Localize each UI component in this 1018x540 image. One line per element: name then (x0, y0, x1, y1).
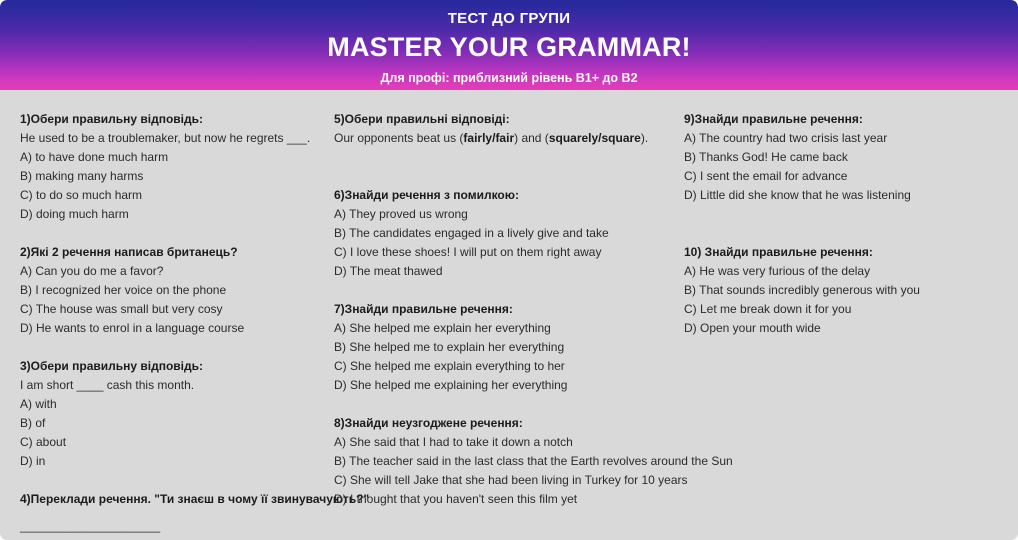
question-10-prompt: 10) Знайди правильне речення: (684, 243, 1010, 262)
question-3-option-d[interactable]: D) in (20, 452, 314, 471)
questions-area: 1)Обери правильну відповідь: He used to … (0, 90, 1018, 540)
question-3-option-b[interactable]: B) of (20, 414, 314, 433)
question-1-option-c[interactable]: C) to do so much harm (20, 186, 314, 205)
question-8-option-c[interactable]: C) She will tell Jake that she had been … (334, 471, 666, 490)
question-1-option-a[interactable]: A) to have done much harm (20, 148, 314, 167)
question-8-option-d[interactable]: D) I thought that you haven't seen this … (334, 490, 666, 509)
question-2-prompt: 2)Які 2 речення написав британець? (20, 243, 314, 262)
question-5-stem: Our opponents beat us (fairly/fair) and … (334, 129, 666, 148)
question-8-option-a[interactable]: A) She said that I had to take it down a… (334, 433, 666, 452)
question-3-option-a[interactable]: A) with (20, 395, 314, 414)
question-7-option-c[interactable]: C) She helped me explain everything to h… (334, 357, 666, 376)
question-2-option-d[interactable]: D) He wants to enrol in a language cours… (20, 319, 314, 338)
question-2-option-a[interactable]: A) Can you do me a favor? (20, 262, 314, 281)
question-column-3: 9)Знайди правильне речення: A) The count… (672, 110, 1018, 338)
question-1-prompt: 1)Обери правильну відповідь: (20, 110, 314, 129)
question-column-1: 1)Обери правильну відповідь: He used to … (0, 110, 320, 536)
banner-eyebrow: ТЕСТ ДО ГРУПИ (448, 11, 571, 28)
question-1-option-b[interactable]: B) making many harms (20, 167, 314, 186)
question-6-option-c[interactable]: C) I love these shoes! I will put on the… (334, 243, 666, 262)
question-6-prompt: 6)Знайди речення з помилкою: (334, 186, 666, 205)
worksheet-page: ТЕСТ ДО ГРУПИ MASTER YOUR GRAMMAR! Для п… (0, 0, 1018, 540)
question-4-prompt: 4)Переклади речення. "Ти знаєш в чому її… (20, 490, 314, 509)
question-3-option-c[interactable]: C) about (20, 433, 314, 452)
banner-subtitle: Для профі: приблизний рівень B1+ до B2 (380, 72, 637, 86)
question-10-option-a[interactable]: A) He was very furious of the delay (684, 262, 1010, 281)
question-6: 6)Знайди речення з помилкою: A) They pro… (334, 186, 666, 281)
question-10: 10) Знайди правильне речення: A) He was … (684, 243, 1010, 338)
question-4: 4)Переклади речення. "Ти знаєш в чому її… (20, 490, 314, 536)
question-1-stem: He used to be a troublemaker, but now he… (20, 129, 314, 148)
question-5-prompt: 5)Обери правильні відповіді: (334, 110, 666, 129)
question-10-option-b[interactable]: B) That sounds incredibly generous with … (684, 281, 1010, 300)
question-8: 8)Знайди неузгоджене речення: A) She sai… (334, 414, 666, 509)
question-9: 9)Знайди правильне речення: A) The count… (684, 110, 1010, 205)
banner-title: MASTER YOUR GRAMMAR! (327, 32, 691, 63)
question-9-option-a[interactable]: A) The country had two crisis last year (684, 129, 1010, 148)
column-2-spacer (334, 167, 666, 186)
question-7-option-d[interactable]: D) She helped me explaining her everythi… (334, 376, 666, 395)
question-4-answer-blank[interactable]: _____________________ (20, 517, 314, 536)
question-9-prompt: 9)Знайди правильне речення: (684, 110, 1010, 129)
question-9-option-c[interactable]: C) I sent the email for advance (684, 167, 1010, 186)
question-2: 2)Які 2 речення написав британець? A) Ca… (20, 243, 314, 338)
question-3-prompt: 3)Обери правильну відповідь: (20, 357, 314, 376)
question-1-option-d[interactable]: D) doing much harm (20, 205, 314, 224)
question-2-option-b[interactable]: B) I recognized her voice on the phone (20, 281, 314, 300)
column-3-spacer (684, 224, 1010, 243)
question-6-option-d[interactable]: D) The meat thawed (334, 262, 666, 281)
question-10-option-c[interactable]: C) Let me break down it for you (684, 300, 1010, 319)
header-banner: ТЕСТ ДО ГРУПИ MASTER YOUR GRAMMAR! Для п… (0, 0, 1018, 90)
question-6-option-b[interactable]: B) The candidates engaged in a lively gi… (334, 224, 666, 243)
question-8-option-b[interactable]: B) The teacher said in the last class th… (334, 452, 666, 471)
question-7-prompt: 7)Знайди правильне речення: (334, 300, 666, 319)
question-column-2: 5)Обери правильні відповіді: Our opponen… (320, 110, 672, 509)
question-9-option-b[interactable]: B) Thanks God! He came back (684, 148, 1010, 167)
question-10-option-d[interactable]: D) Open your mouth wide (684, 319, 1010, 338)
question-7-option-b[interactable]: B) She helped me to explain her everythi… (334, 338, 666, 357)
question-7: 7)Знайди правильне речення: A) She helpe… (334, 300, 666, 395)
question-3: 3)Обери правильну відповідь: I am short … (20, 357, 314, 471)
question-8-prompt: 8)Знайди неузгоджене речення: (334, 414, 666, 433)
question-9-option-d[interactable]: D) Little did she know that he was liste… (684, 186, 1010, 205)
question-6-option-a[interactable]: A) They proved us wrong (334, 205, 666, 224)
question-7-option-a[interactable]: A) She helped me explain her everything (334, 319, 666, 338)
question-5: 5)Обери правильні відповіді: Our opponen… (334, 110, 666, 148)
question-3-stem: I am short ____ cash this month. (20, 376, 314, 395)
question-1: 1)Обери правильну відповідь: He used to … (20, 110, 314, 224)
question-2-option-c[interactable]: C) The house was small but very cosy (20, 300, 314, 319)
